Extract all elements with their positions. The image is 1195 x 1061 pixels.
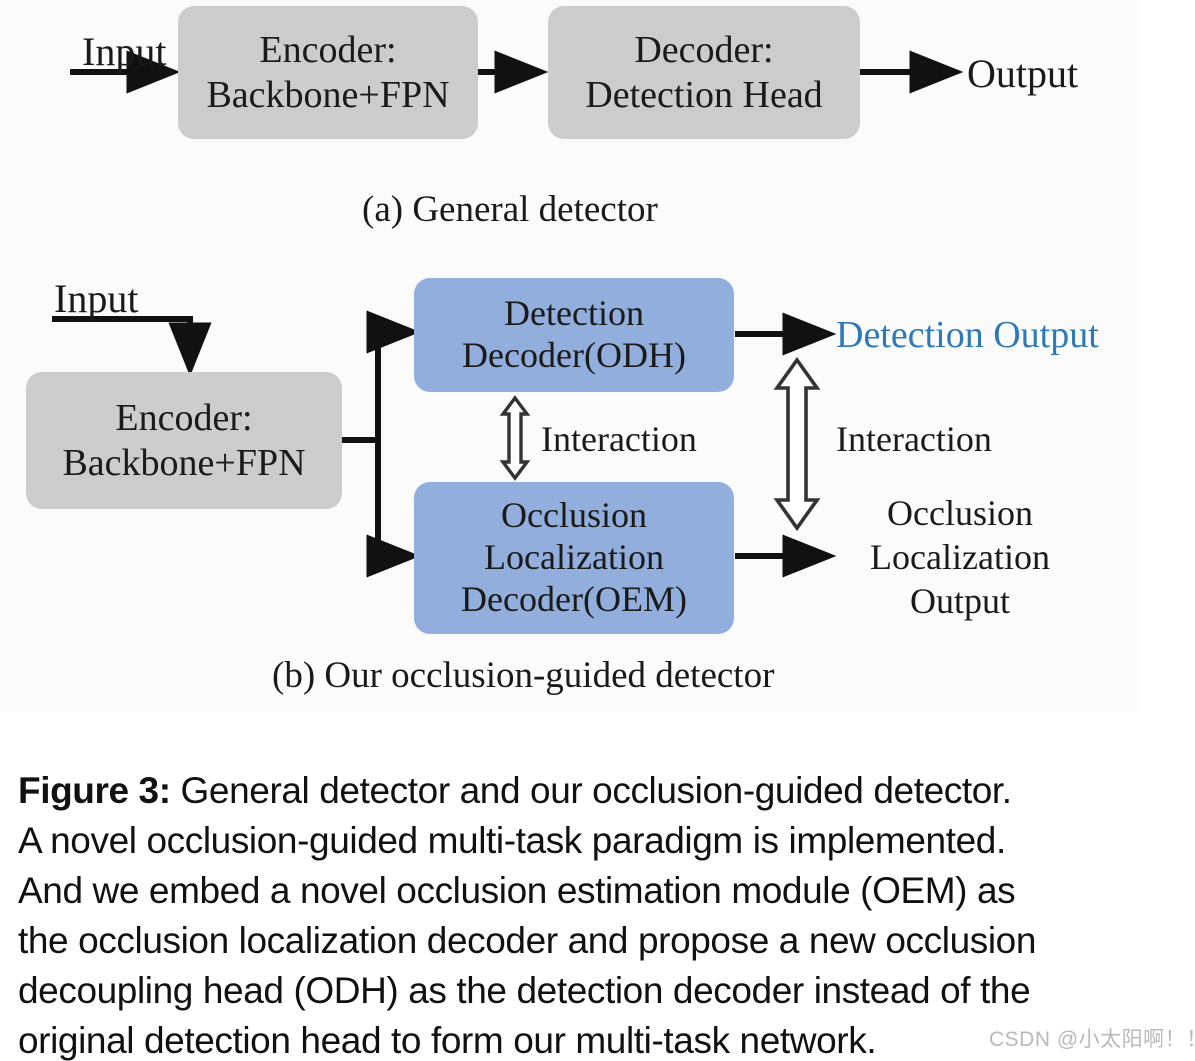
occlusion-output-line1: Occlusion [887,493,1033,533]
arrow-input-to-encoder-b [52,319,190,368]
subcaption-a: (a) General detector [362,188,658,231]
figure-page: Input Encoder: Backbone+FPN Decoder: Det… [0,0,1195,1061]
decoder-box-a-line2: Detection Head [585,73,822,117]
occlusion-output-label: Occlusion Localization Output [838,492,1082,624]
occlusion-decoder-line2: Localization [484,537,664,579]
diagram-a-output-label: Output [967,50,1078,97]
encoder-box-b: Encoder: Backbone+FPN [26,372,342,509]
occlusion-decoder-line3: Decoder(OEM) [461,579,687,621]
subcaption-b: (b) Our occlusion-guided detector [272,654,774,697]
figure-caption: Figure 3: General detector and our occlu… [18,766,1128,1061]
caption-line-5: decoupling head (ODH) as the detection d… [18,966,1128,1016]
encoder-box-b-line1: Encoder: [115,396,252,440]
occlusion-output-line2: Localization [870,537,1050,577]
encoder-box-a-line2: Backbone+FPN [206,73,449,117]
caption-line-3: And we embed a novel occlusion estimatio… [18,866,1128,916]
detection-decoder-box: Detection Decoder(ODH) [414,278,734,392]
detection-decoder-line1: Detection [504,293,644,335]
inner-interaction-double-arrow [503,398,527,478]
detection-decoder-line2: Decoder(ODH) [462,335,686,377]
inner-interaction-label: Interaction [541,418,697,460]
csdn-watermark: CSDN @小太阳啊！！ [989,1023,1195,1053]
caption-line-2: A novel occlusion-guided multi-task para… [18,816,1128,866]
caption-line-6: original detection head to form our mult… [18,1016,1128,1061]
caption-text-1: General detector and our occlusion-guide… [181,770,1012,811]
caption-line-4: the occlusion localization decoder and p… [18,916,1128,966]
figure-number: Figure 3: [18,770,171,811]
diagram-a-input-label: Input [82,28,166,75]
occlusion-decoder-box: Occlusion Localization Decoder(OEM) [414,482,734,634]
encoder-box-a-line1: Encoder: [259,28,396,72]
occlusion-decoder-line1: Occlusion [501,495,647,537]
encoder-box-a: Encoder: Backbone+FPN [178,6,478,139]
decoder-box-a-line1: Decoder: [634,28,773,72]
occlusion-output-line3: Output [910,581,1010,621]
encoder-box-b-line2: Backbone+FPN [62,441,305,485]
caption-line-1: Figure 3: General detector and our occlu… [18,766,1128,816]
decoder-box-a: Decoder: Detection Head [548,6,860,139]
diagram-b-input-label: Input [54,275,138,322]
outer-interaction-double-arrow [777,360,817,528]
detection-output-label: Detection Output [836,313,1099,357]
figure-canvas: Input Encoder: Backbone+FPN Decoder: Det… [0,0,1140,712]
outer-interaction-label: Interaction [836,418,992,460]
